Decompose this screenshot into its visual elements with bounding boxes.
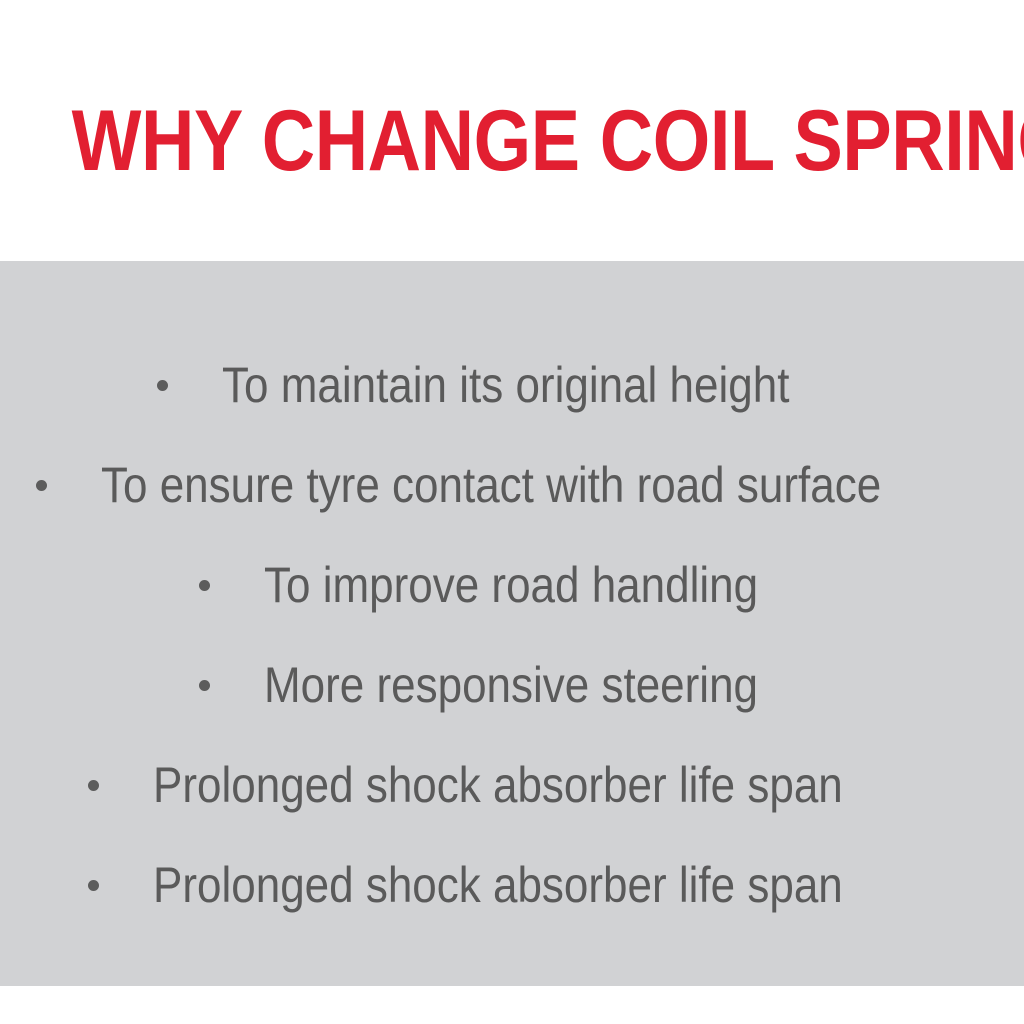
bullet-dot-icon bbox=[199, 680, 210, 691]
bullet-dot-icon bbox=[88, 780, 99, 791]
bullet-dot-icon bbox=[199, 580, 210, 591]
list-item-label: More responsive steering bbox=[264, 660, 758, 710]
page-title: WHY CHANGE COIL SPRING? bbox=[72, 100, 953, 261]
list-item-label: To ensure tyre contact with road surface bbox=[101, 460, 881, 510]
bullet-dot-icon bbox=[157, 380, 168, 391]
list-item: Prolonged shock absorber life span bbox=[0, 835, 1024, 935]
list-item: To maintain its original height bbox=[0, 335, 1024, 435]
bullet-dot-icon bbox=[36, 480, 47, 491]
list-item-label: To maintain its original height bbox=[222, 360, 789, 410]
bottom-white-strip bbox=[0, 986, 1024, 1024]
list-item-label: Prolonged shock absorber life span bbox=[153, 760, 843, 810]
bullet-dot-icon bbox=[88, 880, 99, 891]
list-item: More responsive steering bbox=[0, 635, 1024, 735]
list-item: Prolonged shock absorber life span bbox=[0, 735, 1024, 835]
list-item: To improve road handling bbox=[0, 535, 1024, 635]
poster-canvas: WHY CHANGE COIL SPRING? To maintain its … bbox=[0, 0, 1024, 1024]
title-band: WHY CHANGE COIL SPRING? bbox=[0, 0, 1024, 261]
list-item: To ensure tyre contact with road surface bbox=[0, 435, 1024, 535]
list-item-label: Prolonged shock absorber life span bbox=[153, 860, 843, 910]
benefit-list: To maintain its original height To ensur… bbox=[0, 335, 1024, 935]
benefits-panel: To maintain its original height To ensur… bbox=[0, 261, 1024, 986]
list-item-label: To improve road handling bbox=[264, 560, 758, 610]
